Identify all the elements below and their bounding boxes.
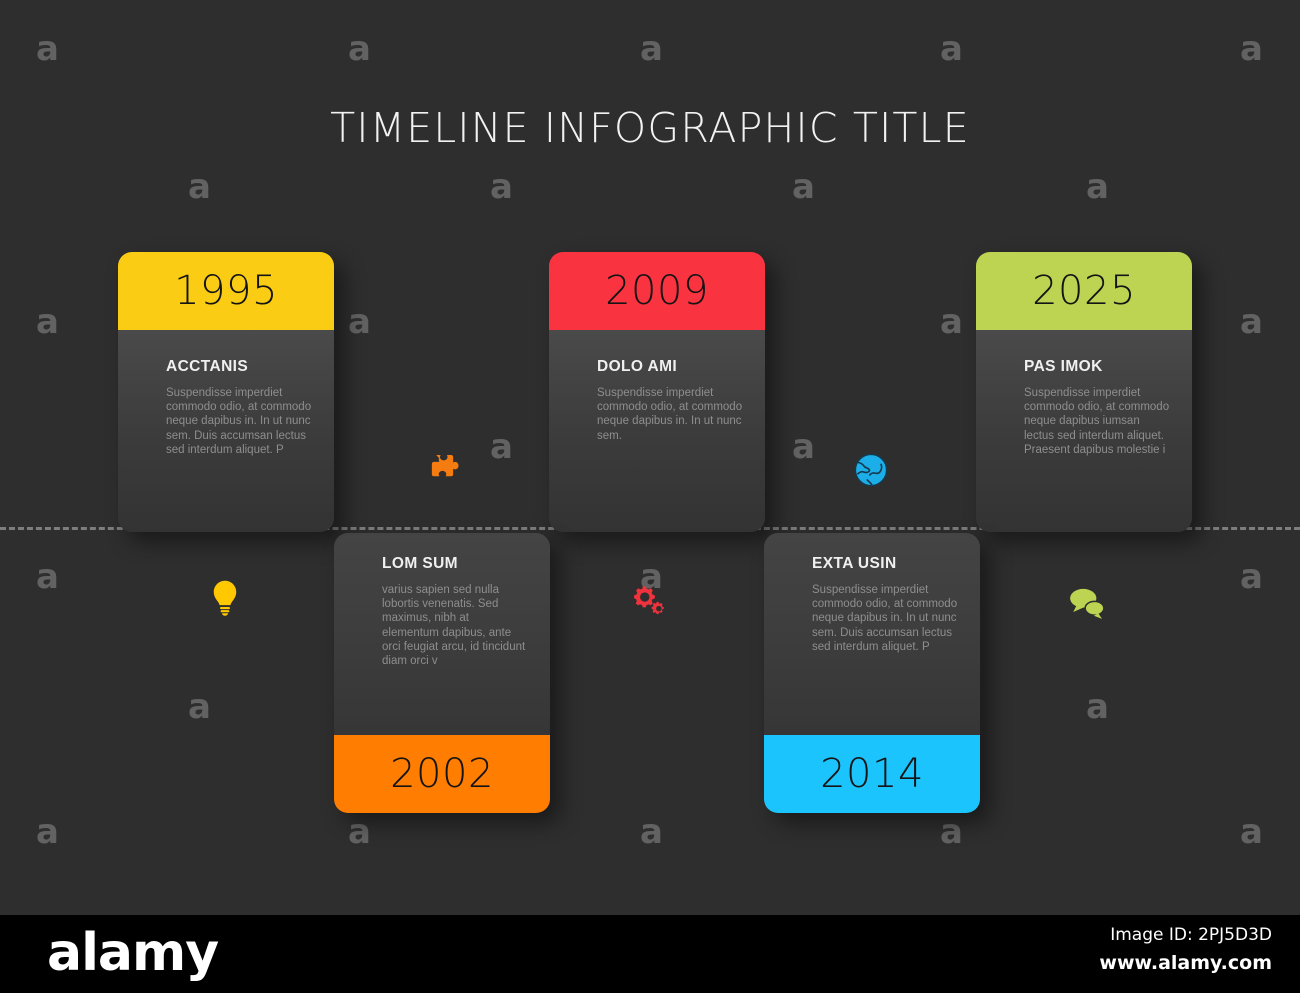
watermark-glyph: a [640, 815, 663, 849]
speech-bubbles-icon [1058, 573, 1116, 631]
infographic-canvas: aaaaaaaaaaaaaaaaaaaaaaaaaaaaaaaa TIMELIN… [0, 0, 1300, 915]
watermark-glyph: a [1240, 32, 1263, 66]
watermark-glyph: a [1086, 170, 1109, 204]
alamy-logo: alamy [47, 922, 218, 984]
card-description: Suspendisse imperdiet commodo odio, at c… [1024, 386, 1170, 457]
watermark-glyph: a [490, 430, 513, 464]
card-heading: EXTA USIN [812, 555, 958, 573]
watermark-glyph: a [792, 170, 815, 204]
alamy-url-label: www.alamy.com [1099, 952, 1272, 974]
card-body: PAS IMOKSuspendisse imperdiet commodo od… [976, 330, 1192, 532]
watermark-glyph: a [36, 305, 59, 339]
watermark-glyph: a [490, 170, 513, 204]
puzzle-piece-icon [416, 441, 474, 499]
watermark-glyph: a [940, 305, 963, 339]
watermark-glyph: a [36, 32, 59, 66]
card-description: Suspendisse imperdiet commodo odio, at c… [812, 583, 958, 654]
watermark-glyph: a [188, 690, 211, 724]
image-id-label: Image ID: 2PJ5D3D [1110, 925, 1272, 945]
card-description: Suspendisse imperdiet commodo odio, at c… [166, 386, 312, 457]
timeline-card[interactable]: EXTA USINSuspendisse imperdiet commodo o… [764, 533, 980, 813]
card-description: varius sapien sed nulla lobortis venenat… [382, 583, 528, 668]
timeline-card[interactable]: 2025PAS IMOKSuspendisse imperdiet commod… [976, 252, 1192, 532]
watermark-glyph: a [640, 32, 663, 66]
watermark-glyph: a [348, 305, 371, 339]
globe-icon [842, 441, 900, 499]
card-year: 2009 [549, 252, 765, 330]
card-heading: ACCTANIS [166, 358, 312, 376]
watermark-glyph: a [36, 560, 59, 594]
watermark-glyph: a [940, 32, 963, 66]
card-year: 2025 [976, 252, 1192, 330]
card-body: LOM SUMvarius sapien sed nulla lobortis … [334, 533, 550, 735]
timeline-card[interactable]: 1995ACCTANISSuspendisse imperdiet commod… [118, 252, 334, 532]
watermark-glyph: a [940, 815, 963, 849]
card-year: 1995 [118, 252, 334, 330]
watermark-glyph: a [188, 170, 211, 204]
watermark-glyph: a [792, 430, 815, 464]
watermark-glyph: a [36, 815, 59, 849]
page-title: TIMELINE INFOGRAPHIC TITLE [0, 104, 1300, 152]
card-description: Suspendisse imperdiet commodo odio, at c… [597, 386, 743, 443]
watermark-glyph: a [348, 32, 371, 66]
card-year: 2014 [764, 735, 980, 813]
card-heading: PAS IMOK [1024, 358, 1170, 376]
card-body: DOLO AMISuspendisse imperdiet commodo od… [549, 330, 765, 532]
card-body: ACCTANISSuspendisse imperdiet commodo od… [118, 330, 334, 532]
card-year: 2002 [334, 735, 550, 813]
watermark-glyph: a [1240, 560, 1263, 594]
timeline-card[interactable]: 2009DOLO AMISuspendisse imperdiet commod… [549, 252, 765, 532]
watermark-glyph: a [1086, 690, 1109, 724]
card-body: EXTA USINSuspendisse imperdiet commodo o… [764, 533, 980, 735]
card-heading: DOLO AMI [597, 358, 743, 376]
watermark-glyph: a [1240, 815, 1263, 849]
watermark-glyph: a [348, 815, 371, 849]
lightbulb-icon [196, 568, 254, 626]
timeline-card[interactable]: LOM SUMvarius sapien sed nulla lobortis … [334, 533, 550, 813]
watermark-glyph: a [1240, 305, 1263, 339]
card-heading: LOM SUM [382, 555, 528, 573]
gears-icon [622, 573, 680, 631]
